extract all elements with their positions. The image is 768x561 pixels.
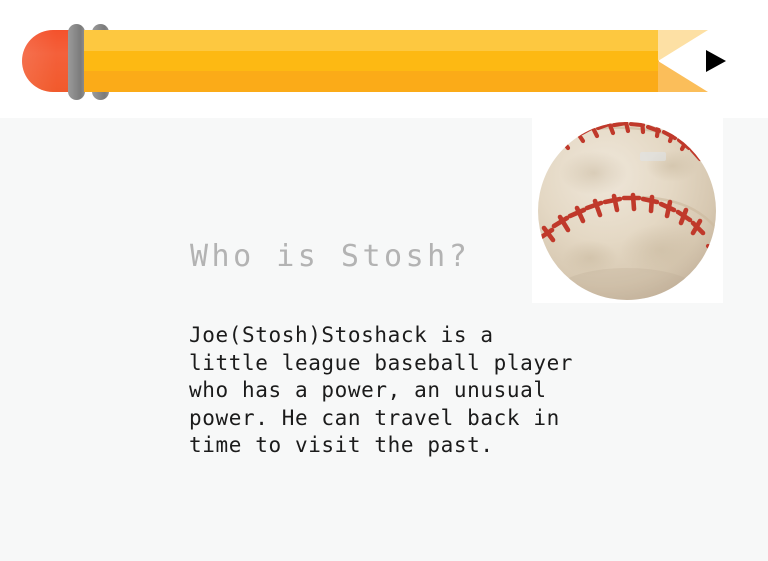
pencil-wood-cone-icon [658, 30, 708, 92]
baseball-icon [532, 118, 723, 303]
body-line: who has a power, an unusual [189, 377, 669, 405]
baseball-image-frame [532, 118, 723, 303]
pencil-cone-upper-face [658, 30, 708, 61]
pencil-graphite-tip-icon [706, 50, 726, 72]
body-text-block: Joe(Stosh)Stoshack is a little league ba… [189, 322, 669, 460]
page-title: Who is Stosh? [190, 238, 470, 276]
body-line: little league baseball player [189, 350, 669, 378]
body-line: power. He can travel back in [189, 405, 669, 433]
pencil-cone-lower-face [658, 61, 708, 92]
slide-canvas: Who is Stosh? Joe(Stosh)Stoshack is a li… [0, 0, 768, 561]
pencil-icon [22, 24, 736, 100]
body-line: Joe(Stosh)Stoshack is a [189, 322, 669, 350]
pencil-ferrule-band-one-icon [68, 24, 85, 100]
pencil-barrel-icon [84, 30, 659, 92]
body-line: time to visit the past. [189, 432, 669, 460]
